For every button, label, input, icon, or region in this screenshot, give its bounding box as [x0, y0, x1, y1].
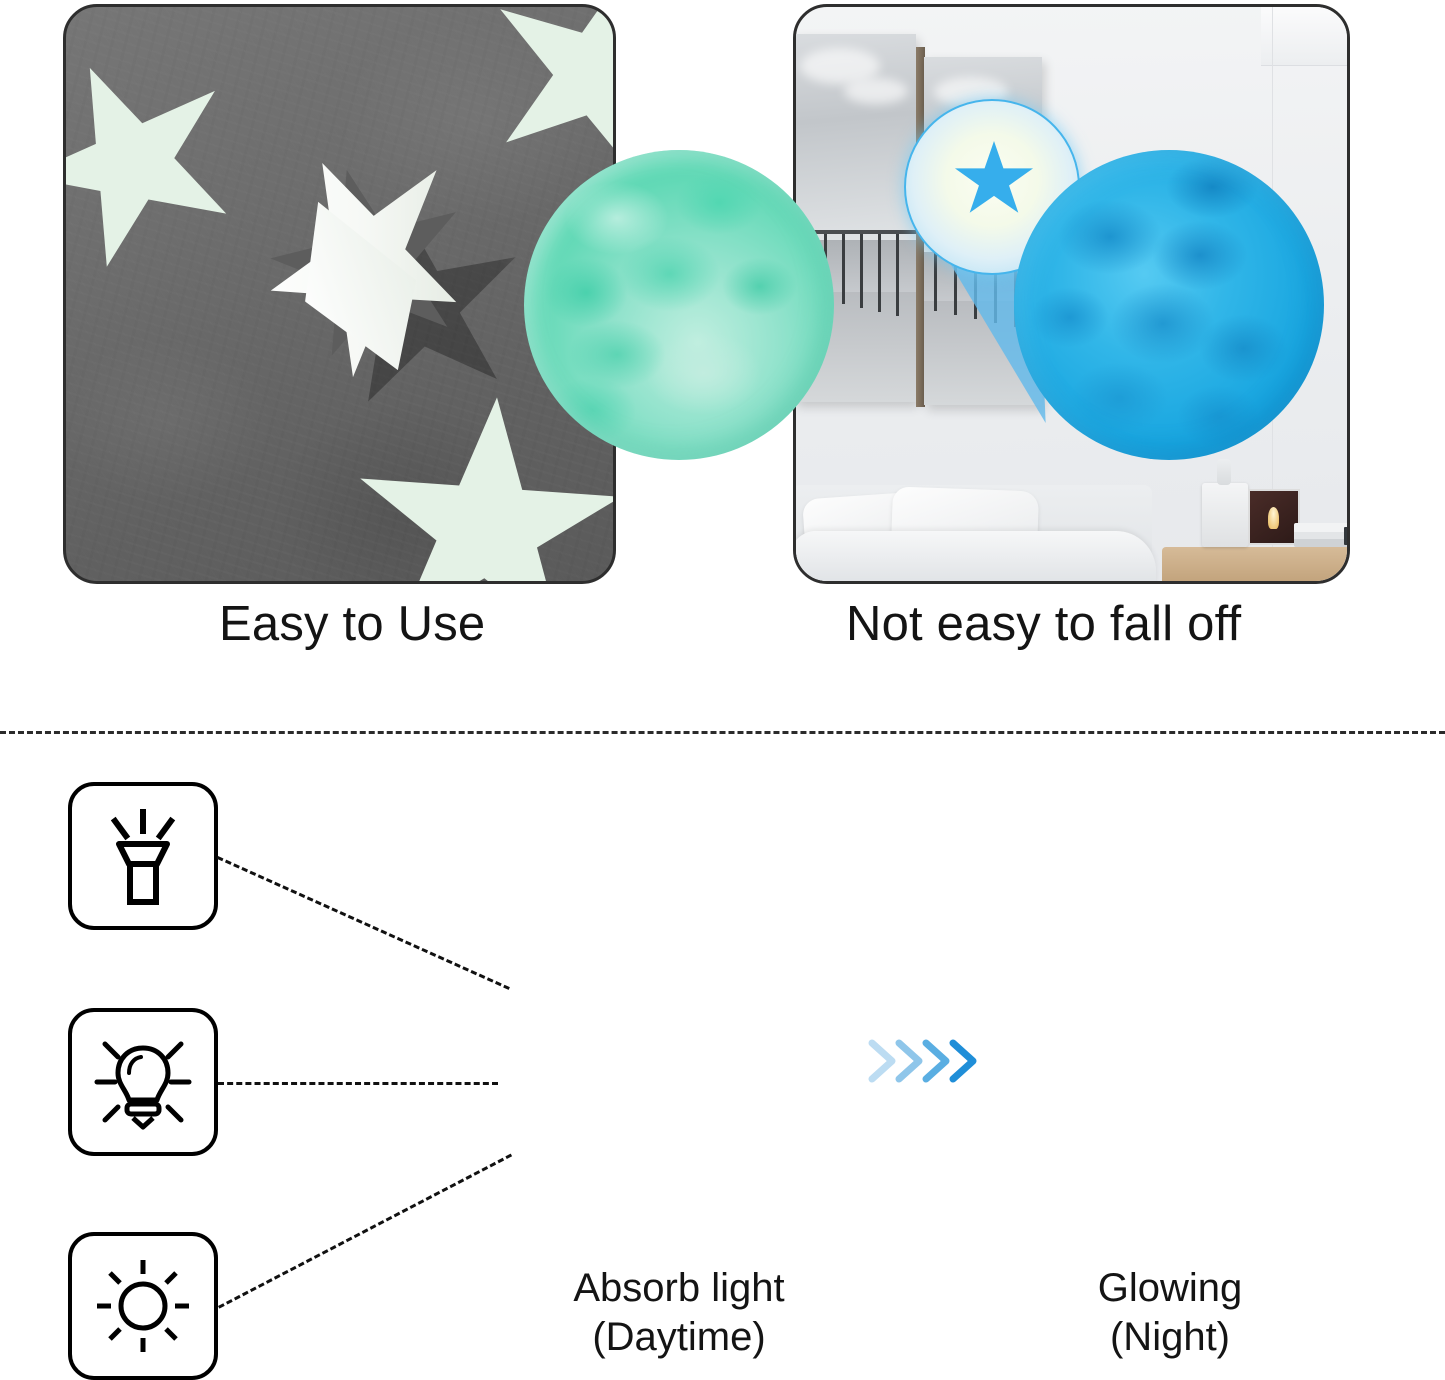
transition-arrows [866, 1030, 982, 1092]
ceiling-soffit [1261, 7, 1347, 66]
pier-leg [878, 234, 881, 312]
candle-flame-icon [1268, 507, 1279, 529]
stacked-books [1294, 523, 1350, 547]
lamp-neck [1217, 459, 1231, 485]
caption-glowing: Glowing (Night) [980, 1264, 1360, 1362]
nightstand [1162, 547, 1350, 581]
light-bulb-icon [89, 1028, 197, 1136]
book-spine [1344, 527, 1350, 545]
moon-glowing [1014, 150, 1324, 460]
caption-easy-to-use: Easy to Use [219, 596, 485, 652]
caption-line-primary: Glowing [980, 1264, 1360, 1313]
duvet [793, 531, 1156, 584]
connector-line [218, 1082, 498, 1085]
caption-absorb-light: Absorb light (Daytime) [489, 1264, 869, 1362]
pier-leg [842, 234, 845, 304]
table-lamp [1202, 483, 1248, 547]
moon-absorb-light [524, 150, 834, 460]
artwork-cloud [844, 78, 908, 104]
pier-leg [860, 234, 863, 308]
framed-candle-photo [1248, 489, 1300, 545]
light-source-bulb [68, 1008, 218, 1156]
light-source-flashlight [68, 782, 218, 930]
caption-line-primary: Absorb light [489, 1264, 869, 1313]
light-source-sun [68, 1232, 218, 1380]
section-divider [0, 731, 1445, 734]
pier-leg [896, 234, 899, 316]
caption-line-secondary: (Night) [980, 1313, 1360, 1362]
flashlight-icon [91, 804, 195, 908]
caption-line-secondary: (Daytime) [489, 1313, 869, 1362]
chevron-right-icon [866, 1030, 982, 1092]
caption-not-easy-to-fall-off: Not easy to fall off [846, 596, 1241, 652]
sun-icon [91, 1254, 195, 1358]
connector-line [217, 856, 510, 990]
magnified-star-icon [954, 141, 1034, 219]
connector-line [218, 1154, 512, 1309]
